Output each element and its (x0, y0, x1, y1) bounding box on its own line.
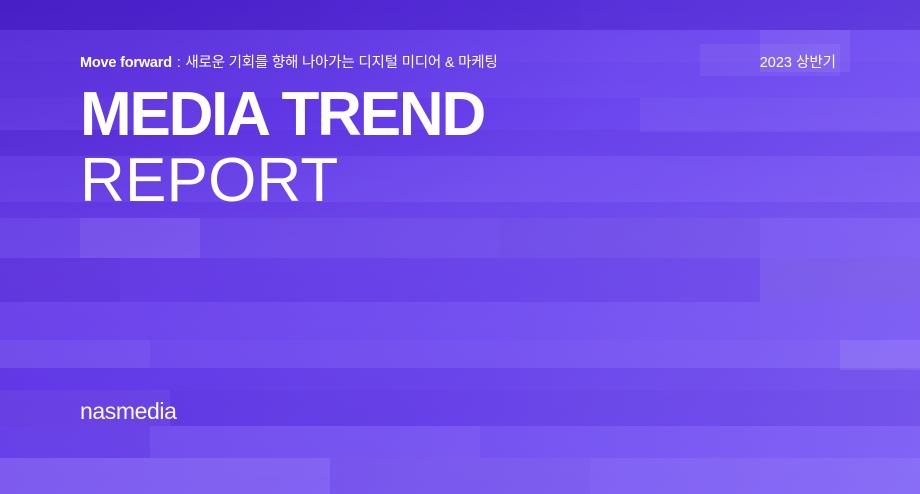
subtitle-lead: Move forward (80, 55, 172, 71)
subtitle-separator: : (172, 55, 186, 71)
report-cover: Move forward : 새로운 기회를 향해 나아가는 디지털 미디어 &… (0, 0, 920, 494)
cover-subtitle: Move forward : 새로운 기회를 향해 나아가는 디지털 미디어 &… (80, 56, 498, 71)
cover-content: Move forward : 새로운 기회를 향해 나아가는 디지털 미디어 &… (0, 0, 920, 494)
subtitle-tail: 새로운 기회를 향해 나아가는 디지털 미디어 & 마케팅 (185, 55, 497, 71)
cover-title: MEDIA TREND REPORT (80, 82, 484, 214)
nasmedia-logo: nasmedia (80, 400, 177, 423)
subtitle-row: Move forward : 새로운 기회를 향해 나아가는 디지털 미디어 &… (80, 50, 836, 76)
title-line-primary: MEDIA TREND (80, 82, 484, 148)
report-period: 2023 상반기 (760, 56, 836, 71)
title-line-secondary: REPORT (80, 148, 484, 214)
